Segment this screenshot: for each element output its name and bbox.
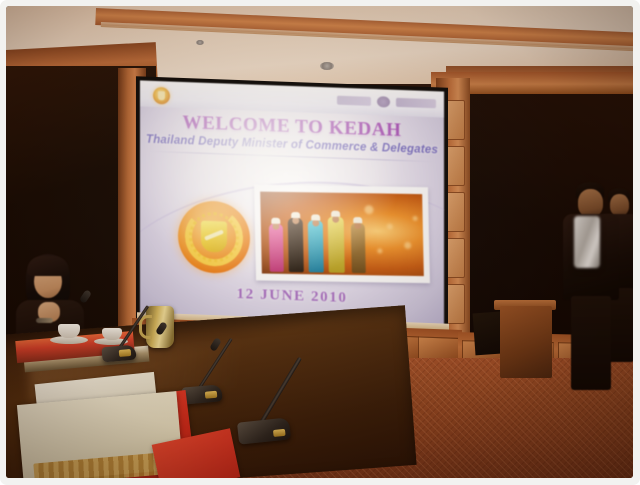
figure-headdress: [271, 218, 280, 224]
projection-screen: WELCOME TO KEDAH Thailand Deputy Ministe…: [140, 80, 444, 325]
kedah-crest-logo-icon: [153, 87, 170, 105]
partner-logo-icon: [337, 95, 371, 105]
legs: [571, 296, 611, 390]
bokeh-light: [387, 224, 393, 230]
microphone-indicator: [119, 349, 132, 357]
slide-photo-image: [260, 192, 424, 277]
bokeh-light: [377, 248, 382, 253]
photograph: WELCOME TO KEDAH Thailand Deputy Ministe…: [6, 6, 633, 478]
partner-logo-icon: [396, 97, 436, 107]
emblem-shield: [201, 221, 227, 253]
person-figure: [328, 217, 345, 273]
photo-frame: WELCOME TO KEDAH Thailand Deputy Ministe…: [0, 0, 640, 485]
teacup: [58, 324, 80, 338]
bokeh-light: [364, 205, 373, 214]
head: [578, 189, 603, 217]
bokeh-light: [413, 216, 418, 221]
person-figure: [308, 220, 324, 272]
held-object: [574, 216, 600, 268]
microphone-indicator: [205, 391, 218, 399]
figure-headdress: [291, 212, 300, 218]
figure-headdress: [311, 214, 320, 220]
lectern: [500, 306, 552, 378]
figure-headdress: [353, 217, 362, 223]
microphone-base: [181, 384, 222, 404]
wristwatch: [36, 318, 53, 323]
ceiling-downlight: [196, 40, 204, 45]
person-figure: [269, 224, 284, 272]
standing-presenter: [561, 182, 623, 392]
partner-logo-icon: [377, 96, 390, 107]
slide-photo-frame: [254, 184, 430, 283]
person-figure: [351, 223, 366, 273]
hair-fringe: [27, 256, 69, 276]
bokeh-light: [404, 242, 411, 249]
ceiling-downlight: [320, 62, 334, 70]
teacup: [102, 328, 122, 340]
microphone-base: [101, 345, 136, 363]
person-figure: [288, 218, 304, 272]
figure-headdress: [331, 211, 340, 217]
microphone-indicator: [273, 429, 286, 437]
